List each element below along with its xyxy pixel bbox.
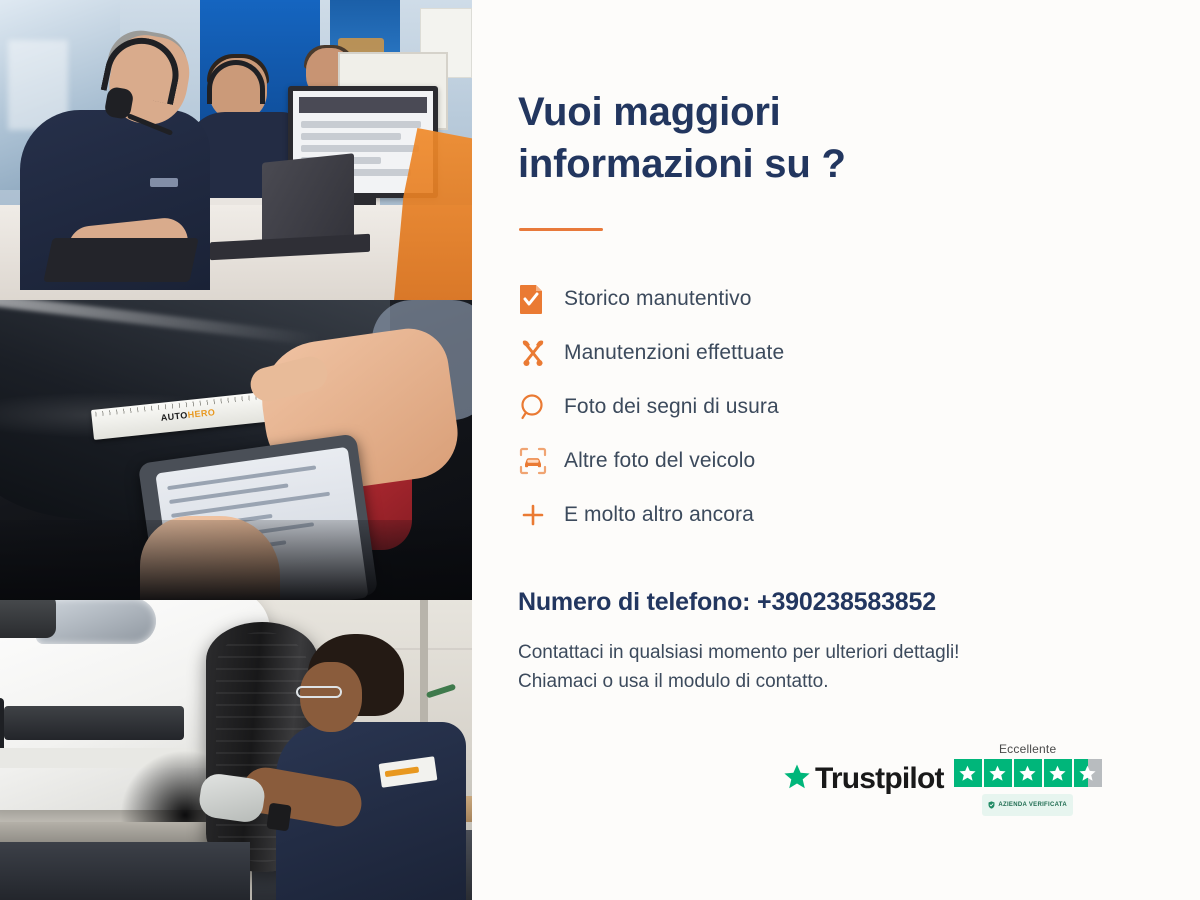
car-inspection-photo: AUTOHERO xyxy=(0,300,472,600)
mechanic-tire-photo xyxy=(0,600,472,900)
autohero-brand-part1: AUTO xyxy=(160,410,188,423)
trustpilot-rating: Eccellente xyxy=(954,742,1102,816)
photo2-shadow xyxy=(0,520,472,600)
verified-business-badge: AZIENDA VERIFICATA xyxy=(982,794,1073,816)
wrench-screwdriver-icon xyxy=(518,338,564,368)
trustpilot-rating-word: Eccellente xyxy=(999,742,1056,756)
phone-number-heading: Numero di telefono: +390238583852 xyxy=(518,588,936,617)
contact-line-2: Chiamaci o usa il modulo di contatto. xyxy=(518,667,1158,696)
info-content: Vuoi maggiori informazioni su ? Storico … xyxy=(472,0,1200,900)
photo-column: AUTOHERO xyxy=(0,0,472,900)
trustpilot-widget[interactable]: Trustpilot Eccellente xyxy=(782,742,1102,816)
star-filled-4 xyxy=(1044,759,1072,787)
star-filled-3 xyxy=(1014,759,1042,787)
feature-item-altre-foto: Altre foto del veicolo xyxy=(518,434,938,488)
feature-list: Storico manutentivo Manutenzi xyxy=(518,272,938,542)
document-check-icon xyxy=(518,284,564,314)
feature-label: Manutenzioni effettuate xyxy=(564,341,784,365)
feature-item-storico: Storico manutentivo xyxy=(518,272,938,326)
tool-cabinet-left xyxy=(0,842,250,900)
desk-tablet xyxy=(43,238,198,282)
contact-line-1: Contattaci in qualsiasi momento per ulte… xyxy=(518,638,1158,667)
magnifier-icon xyxy=(518,392,564,422)
autohero-brand-part2: HERO xyxy=(187,407,216,420)
car-lift-arm xyxy=(0,822,230,844)
trustpilot-brand-text: Trustpilot xyxy=(815,762,944,796)
feature-label: Foto dei segni di usura xyxy=(564,395,779,419)
feature-item-altro: E molto altro ancora xyxy=(518,488,938,542)
feature-label: Storico manutentivo xyxy=(564,287,752,311)
feature-label: E molto altro ancora xyxy=(564,503,754,527)
shield-check-icon xyxy=(988,796,995,814)
promo-panel: AUTOHERO xyxy=(0,0,1200,900)
trustpilot-logo: Trustpilot xyxy=(782,762,944,797)
feature-item-foto-usura: Foto dei segni di usura xyxy=(518,380,938,434)
trustpilot-stars xyxy=(954,759,1102,787)
feature-item-manutenzioni: Manutenzioni effettuate xyxy=(518,326,938,380)
title-divider xyxy=(519,228,603,231)
mechanic-person xyxy=(272,634,472,900)
verified-business-label: AZIENDA VERIFICATA xyxy=(998,802,1067,808)
trustpilot-star-icon xyxy=(782,762,812,797)
star-filled-1 xyxy=(954,759,982,787)
star-filled-2 xyxy=(984,759,1012,787)
plus-icon xyxy=(518,500,564,530)
star-half-5 xyxy=(1074,759,1102,787)
car-viewfinder-icon xyxy=(518,446,564,476)
feature-label: Altre foto del veicolo xyxy=(564,449,755,473)
contact-instructions: Contattaci in qualsiasi momento per ulte… xyxy=(518,638,1158,697)
page-title: Vuoi maggiori informazioni su ? xyxy=(518,86,918,190)
call-center-agents-photo xyxy=(0,0,472,300)
